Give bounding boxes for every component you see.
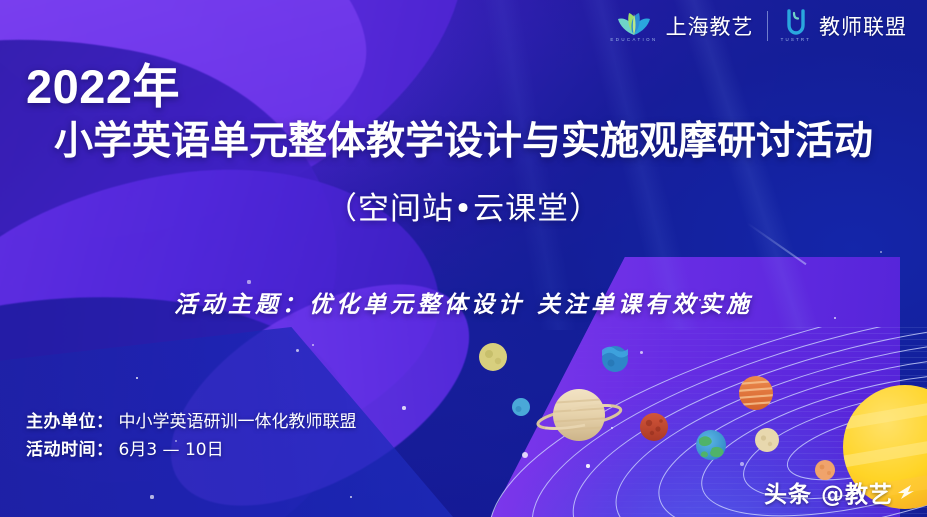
watermark-flame-icon xyxy=(897,484,915,500)
poster-title: 小学英语单元整体教学设计与实施观摩研讨活动 xyxy=(14,122,913,163)
organizer-value: 中小学英语研训一体化教师联盟 xyxy=(119,409,357,437)
poster-content: 2022年 小学英语单元整体教学设计与实施观摩研讨活动 （空间站•云课堂） 活动… xyxy=(0,0,927,517)
meta-row-organizer: 主办单位： 中小学英语研训一体化教师联盟 xyxy=(26,409,357,437)
poster-subtitle: （空间站•云课堂） xyxy=(0,183,927,228)
poster-year: 2022年 xyxy=(26,63,180,110)
watermark-text: 头条 @教艺 xyxy=(764,475,893,509)
time-label: 活动时间： xyxy=(26,437,114,465)
poster-meta-block: 主办单位： 中小学英语研训一体化教师联盟 活动时间： 6月3 — 10日 xyxy=(26,409,357,464)
poster-theme: 活动主题：优化单元整体设计 关注单课有效实施 xyxy=(0,285,927,319)
organizer-label: 主办单位： xyxy=(26,409,114,437)
time-value: 6月3 — 10日 xyxy=(119,437,224,465)
watermark: 头条 @教艺 xyxy=(764,475,915,509)
meta-row-time: 活动时间： 6月3 — 10日 xyxy=(26,437,357,465)
event-poster: EDUCATION 上海教艺 TUSTRT 教师联盟 2022年 小学英语单元整… xyxy=(0,0,927,517)
